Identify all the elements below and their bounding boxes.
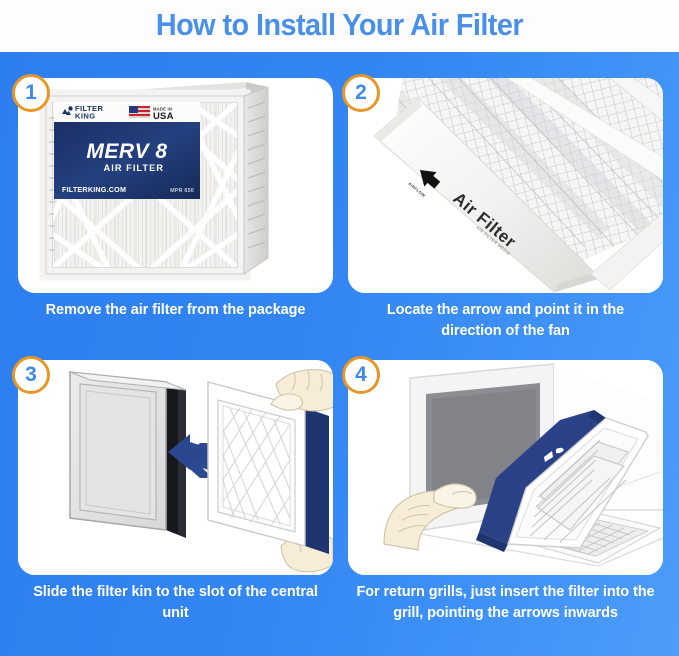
- step-4-number: 4: [355, 364, 367, 387]
- step-4-card: [348, 360, 663, 575]
- header-bar: How to Install Your Air Filter: [0, 0, 679, 52]
- infographic-page: How to Install Your Air Filter: [0, 0, 679, 656]
- step-1-caption: Remove the air filter from the package: [18, 300, 333, 321]
- usa-flag-icon: [129, 106, 150, 118]
- step-2-card: AIRFLOW Air Filter AIR FILTER MEDIA: [348, 78, 663, 293]
- air-filter-product-photo: FILTER KING MADE IN USA MERV 8: [18, 78, 333, 293]
- step-1-badge: 1: [12, 74, 50, 112]
- step-3-card: [18, 360, 333, 575]
- svg-text:FILTERKING.COM: FILTERKING.COM: [62, 185, 126, 194]
- step-3-caption: Slide the filter kin to the slot of the …: [26, 582, 325, 623]
- step-1: FILTER KING MADE IN USA MERV 8: [18, 78, 333, 333]
- central-unit-graphic: [70, 372, 186, 538]
- svg-text:KING: KING: [75, 112, 96, 121]
- step-3-number: 3: [25, 364, 37, 387]
- step-2-badge: 2: [342, 74, 380, 112]
- filter-slide-into-unit-illustration: [18, 360, 333, 575]
- step-2: AIRFLOW Air Filter AIR FILTER MEDIA 2 Lo…: [348, 78, 663, 333]
- step-4-badge: 4: [342, 356, 380, 394]
- product-label: FILTER KING MADE IN USA MERV 8: [54, 102, 200, 199]
- return-grill-insert-illustration: [348, 360, 663, 575]
- svg-text:USA: USA: [153, 111, 174, 122]
- step-3-badge: 3: [12, 356, 50, 394]
- step-4-caption: For return grills, just insert the filte…: [356, 582, 655, 623]
- filter-corner-airflow-photo: AIRFLOW Air Filter AIR FILTER MEDIA: [348, 78, 663, 293]
- step-1-card: FILTER KING MADE IN USA MERV 8: [18, 78, 333, 293]
- step-3: 3 Slide the filter kin to the slot of th…: [18, 360, 333, 635]
- step-1-number: 1: [25, 82, 37, 105]
- step-2-caption: Locate the arrow and point it in the dir…: [358, 300, 653, 341]
- svg-text:MPR 650: MPR 650: [170, 188, 194, 194]
- step-2-number: 2: [355, 82, 367, 105]
- page-title: How to Install Your Air Filter: [156, 9, 523, 43]
- svg-text:AIR FILTER: AIR FILTER: [104, 163, 164, 173]
- svg-text:MERV 8: MERV 8: [86, 140, 167, 163]
- step-4: 4 For return grills, just insert the fil…: [348, 360, 663, 650]
